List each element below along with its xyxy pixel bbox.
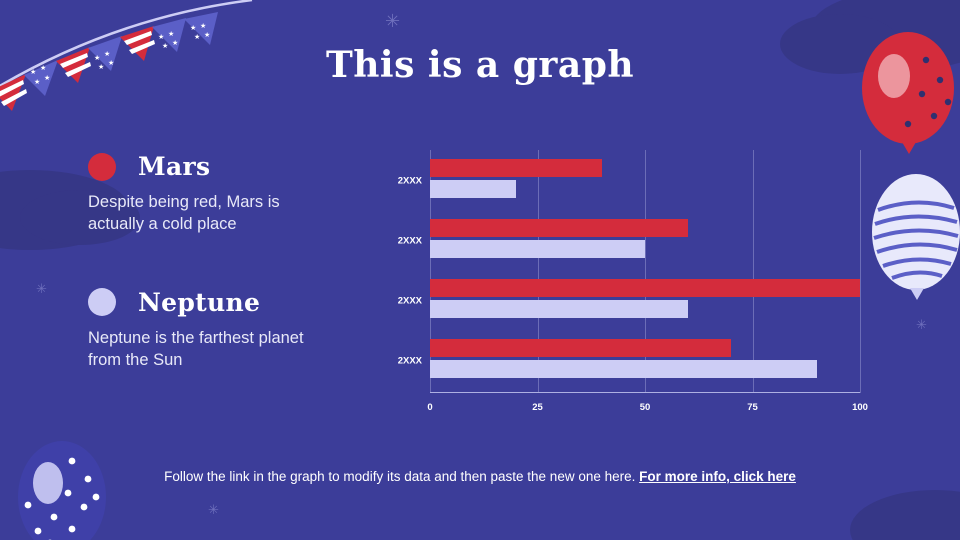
footer-note: Follow the link in the graph to modify i… bbox=[0, 469, 960, 484]
svg-text:★: ★ bbox=[200, 22, 206, 30]
cloud-shape bbox=[850, 490, 960, 540]
gridline-100 bbox=[860, 150, 861, 393]
svg-text:★: ★ bbox=[190, 24, 196, 32]
legend-item-neptune: Neptune Neptune is the farthest planet f… bbox=[88, 288, 378, 372]
legend-item-header: Mars bbox=[88, 152, 378, 181]
x-tick-label: 25 bbox=[532, 402, 543, 413]
bar-neptune-3 bbox=[430, 360, 817, 378]
footer-text: Follow the link in the graph to modify i… bbox=[164, 469, 639, 484]
star-icon: ✳ bbox=[208, 503, 219, 516]
bar-group: 2XXX bbox=[430, 158, 860, 204]
category-label: 2XXX bbox=[398, 296, 422, 307]
bar-mars-1 bbox=[430, 219, 688, 237]
legend-item-description: Despite being red, Mars is actually a co… bbox=[88, 191, 323, 236]
bar-group: 2XXX bbox=[430, 338, 860, 384]
page-title: This is a graph bbox=[0, 44, 960, 86]
legend-color-dot-neptune bbox=[88, 288, 116, 316]
legend-color-dot-mars bbox=[88, 153, 116, 181]
legend-item-description: Neptune is the farthest planet from the … bbox=[88, 327, 323, 372]
x-tick-label: 100 bbox=[852, 402, 868, 413]
legend-item-header: Neptune bbox=[88, 288, 378, 317]
svg-text:★: ★ bbox=[204, 31, 210, 39]
legend-item-mars: Mars Despite being red, Mars is actually… bbox=[88, 152, 378, 236]
x-axis-line bbox=[430, 392, 860, 393]
svg-text:★: ★ bbox=[194, 33, 200, 41]
bar-mars-3 bbox=[430, 339, 731, 357]
category-label: 2XXX bbox=[398, 236, 422, 247]
bar-mars-2 bbox=[430, 279, 860, 297]
svg-text:★: ★ bbox=[158, 33, 164, 41]
bar-chart: 2XXX 2XXX 2XXX 2XXX 0 25 50 75 100 bbox=[392, 150, 882, 415]
x-tick-label: 0 bbox=[427, 402, 432, 413]
category-label: 2XXX bbox=[398, 356, 422, 367]
bar-group: 2XXX bbox=[430, 218, 860, 264]
balloon-decoration bbox=[10, 435, 130, 540]
x-tick-label: 50 bbox=[640, 402, 651, 413]
star-icon: ✳ bbox=[36, 282, 47, 295]
bar-mars-0 bbox=[430, 159, 602, 177]
bar-neptune-2 bbox=[430, 300, 688, 318]
star-icon: ✳ bbox=[385, 12, 400, 30]
bar-neptune-1 bbox=[430, 240, 645, 258]
legend: Mars Despite being red, Mars is actually… bbox=[88, 152, 378, 405]
svg-text:★: ★ bbox=[168, 30, 174, 38]
more-info-link[interactable]: For more info, click here bbox=[639, 469, 796, 484]
bar-group: 2XXX bbox=[430, 278, 860, 324]
bar-neptune-0 bbox=[430, 180, 516, 198]
category-label: 2XXX bbox=[398, 176, 422, 187]
x-tick-label: 75 bbox=[747, 402, 758, 413]
legend-item-title: Neptune bbox=[138, 288, 260, 317]
chart-plot-area: 2XXX 2XXX 2XXX 2XXX bbox=[430, 150, 860, 393]
star-icon: ✳ bbox=[916, 318, 927, 331]
legend-item-title: Mars bbox=[138, 152, 210, 181]
